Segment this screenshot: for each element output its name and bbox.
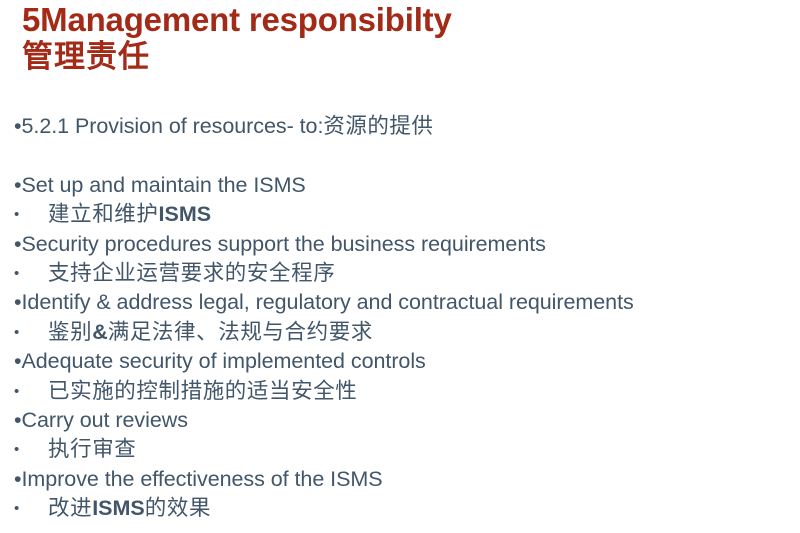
- bullet-line-zh-4-text-pre: 执行审查: [48, 437, 136, 462]
- bullet-line-zh-5-text-pre: 改进: [48, 496, 92, 521]
- bullet-line-zh-2-text-post: 满足法律、法规与合约要求: [108, 320, 373, 345]
- bullet-icon: •: [14, 435, 48, 464]
- bullet-line-en-3: •Adequate security of implemented contro…: [14, 347, 794, 376]
- slide-title-english: 5Management responsibilty: [22, 2, 778, 38]
- bullet-line-zh-0-text-pre: 建立和维护: [48, 202, 159, 227]
- bullet-line-en-0: •Set up and maintain the ISMS: [14, 171, 794, 200]
- bullet-line-en-3-text: Adequate security of implemented control…: [21, 349, 425, 373]
- slide-title-block: 5Management responsibilty 管理责任: [22, 2, 778, 76]
- bullet-line-en-5: •Improve the effectiveness of the ISMS: [14, 465, 794, 494]
- slide-canvas: 5Management responsibilty 管理责任 •5.2.1 Pr…: [0, 0, 800, 533]
- bullet-line-zh-3-text-pre: 已实施的控制措施的适当安全性: [48, 379, 357, 404]
- bullet-line-en-0-text: Set up and maintain the ISMS: [21, 173, 305, 197]
- bullet-line-zh-4: •执行审查: [14, 435, 794, 464]
- bullet-line-en-2-text: Identify & address legal, regulatory and…: [21, 290, 633, 314]
- bullet-line-zh-2-text-pre: 鉴别: [48, 320, 92, 345]
- bullet-line-en-1: •Security procedures support the busines…: [14, 230, 794, 259]
- bullet-line-en-2: •Identify & address legal, regulatory an…: [14, 288, 794, 317]
- bullet-line-intro: •5.2.1 Provision of resources- to:资源的提供: [14, 112, 794, 141]
- bullet-line-zh-3: •已实施的控制措施的适当安全性: [14, 377, 794, 406]
- bullet-icon: •: [14, 259, 48, 288]
- slide-body-block: •5.2.1 Provision of resources- to:资源的提供 …: [14, 112, 794, 524]
- bullet-icon: •: [14, 494, 48, 523]
- bullet-line-intro-english: 5.2.1 Provision of resources- to:: [21, 114, 323, 138]
- bullet-line-zh-1: •支持企业运营要求的安全程序: [14, 259, 794, 288]
- bullet-icon: •: [14, 200, 48, 229]
- bullet-icon: •: [14, 377, 48, 406]
- bullet-line-zh-5: •改进ISMS的效果: [14, 494, 794, 523]
- bullet-line-zh-5-text-post: 的效果: [145, 496, 211, 521]
- bullet-line-zh-1-text-pre: 支持企业运营要求的安全程序: [48, 261, 335, 286]
- bullet-line-en-5-text: Improve the effectiveness of the ISMS: [21, 467, 382, 491]
- slide-title-chinese: 管理责任: [22, 38, 778, 76]
- bullet-line-zh-0-latin: ISMS: [159, 202, 212, 226]
- bullet-line-zh-5-latin: ISMS: [92, 496, 145, 520]
- bullet-line-en-4: •Carry out reviews: [14, 406, 794, 435]
- bullet-line-zh-2: •鉴别&满足法律、法规与合约要求: [14, 318, 794, 347]
- bullet-line-intro-chinese: 资源的提供: [323, 114, 433, 139]
- bullet-line-zh-0: •建立和维护ISMS: [14, 200, 794, 229]
- bullet-line-en-1-text: Security procedures support the business…: [21, 232, 545, 256]
- bullet-line-en-4-text: Carry out reviews: [21, 408, 187, 432]
- bullet-icon: •: [14, 318, 48, 347]
- bullet-line-zh-2-latin: &: [92, 320, 108, 344]
- body-spacer: [14, 141, 794, 170]
